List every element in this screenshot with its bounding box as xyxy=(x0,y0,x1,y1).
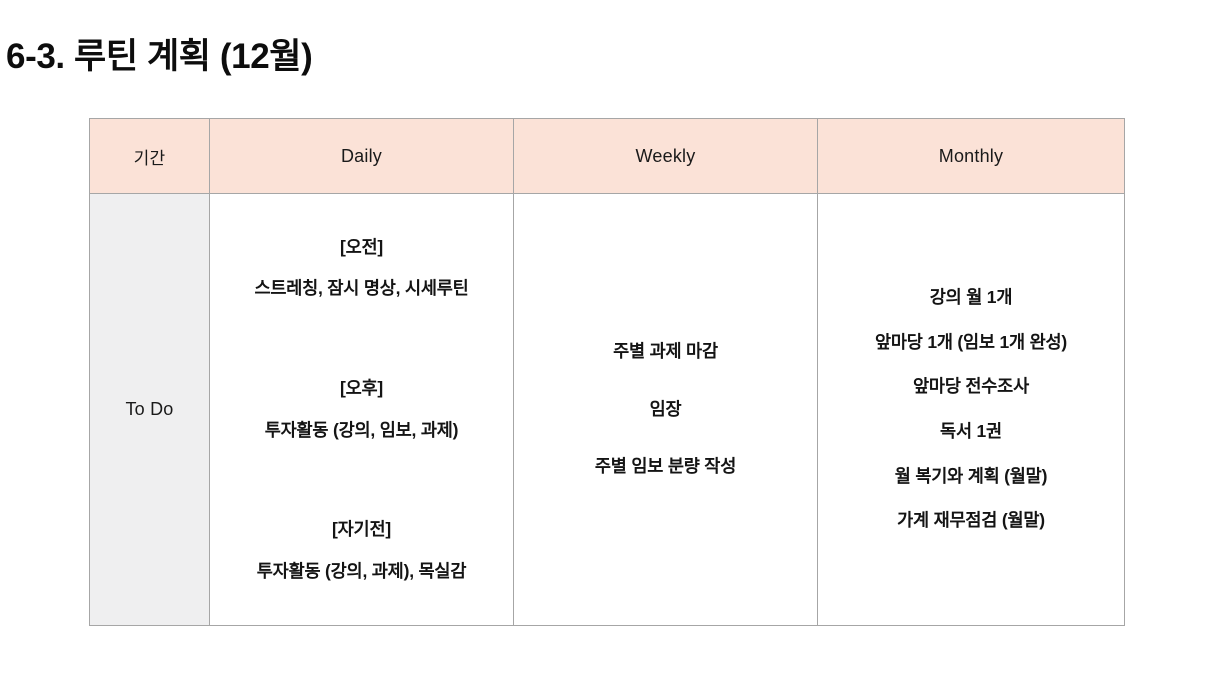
weekly-content: 주별 과제 마감 임장 주별 임보 분량 작성 xyxy=(514,194,817,625)
daily-bedtime-item: 투자활동 (강의, 과제), 목실감 xyxy=(257,560,466,584)
column-header-period: 기간 xyxy=(90,119,210,194)
monthly-item: 독서 1권 xyxy=(940,420,1002,444)
daily-morning-item: 스트레칭, 잠시 명상, 시세루틴 xyxy=(254,277,468,301)
column-header-weekly: Weekly xyxy=(514,119,818,194)
weekly-item: 임장 xyxy=(650,398,682,422)
table-row: To Do [오전] 스트레칭, 잠시 명상, 시세루틴 [오후] 투자활동 (… xyxy=(90,194,1125,626)
weekly-item: 주별 과제 마감 xyxy=(613,340,718,364)
daily-afternoon-heading: [오후] xyxy=(340,377,383,401)
slide-canvas: 6-3. 루틴 계획 (12월) 기간 Daily Weekly Monthly… xyxy=(0,0,1216,684)
daily-group-bedtime: [자기전] 투자활동 (강의, 과제), 목실감 xyxy=(257,518,466,583)
daily-bedtime-heading: [자기전] xyxy=(332,518,391,542)
page-title: 6-3. 루틴 계획 (12월) xyxy=(6,35,312,79)
monthly-content: 강의 월 1개 앞마당 1개 (임보 1개 완성) 앞마당 전수조사 독서 1권… xyxy=(818,194,1124,625)
daily-morning-heading: [오전] xyxy=(340,236,383,260)
monthly-item: 강의 월 1개 xyxy=(930,286,1012,310)
cell-period-todo: To Do xyxy=(90,194,210,626)
cell-monthly: 강의 월 1개 앞마당 1개 (임보 1개 완성) 앞마당 전수조사 독서 1권… xyxy=(818,194,1125,626)
daily-content: [오전] 스트레칭, 잠시 명상, 시세루틴 [오후] 투자활동 (강의, 임보… xyxy=(210,194,513,625)
daily-group-morning: [오전] 스트레칭, 잠시 명상, 시세루틴 xyxy=(254,236,468,301)
monthly-item: 월 복기와 계획 (월말) xyxy=(895,465,1047,489)
weekly-item: 주별 임보 분량 작성 xyxy=(595,455,736,479)
daily-afternoon-item: 투자활동 (강의, 임보, 과제) xyxy=(265,419,459,443)
monthly-item: 앞마당 전수조사 xyxy=(913,375,1029,399)
monthly-item: 가계 재무점검 (월말) xyxy=(897,509,1045,533)
table-body: To Do [오전] 스트레칭, 잠시 명상, 시세루틴 [오후] 투자활동 (… xyxy=(90,194,1125,626)
cell-weekly: 주별 과제 마감 임장 주별 임보 분량 작성 xyxy=(514,194,818,626)
monthly-item: 앞마당 1개 (임보 1개 완성) xyxy=(875,331,1067,355)
cell-daily: [오전] 스트레칭, 잠시 명상, 시세루틴 [오후] 투자활동 (강의, 임보… xyxy=(210,194,514,626)
routine-plan-table: 기간 Daily Weekly Monthly To Do [오전] 스트레칭,… xyxy=(89,118,1125,626)
daily-group-afternoon: [오후] 투자활동 (강의, 임보, 과제) xyxy=(265,377,459,442)
table-header-row: 기간 Daily Weekly Monthly xyxy=(90,119,1125,194)
column-header-monthly: Monthly xyxy=(818,119,1125,194)
table-header: 기간 Daily Weekly Monthly xyxy=(90,119,1125,194)
column-header-daily: Daily xyxy=(210,119,514,194)
